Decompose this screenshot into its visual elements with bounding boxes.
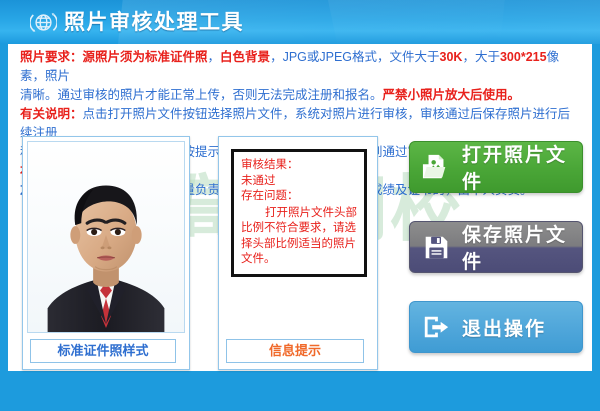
open-folder-photo-icon	[410, 153, 462, 181]
audit-result-value: 未通过	[241, 174, 358, 190]
sample-photo-card: 标准证件照样式	[22, 136, 190, 370]
open-photo-file-label: 打开照片文件	[462, 140, 582, 194]
notice-min-size: 30K	[440, 50, 463, 64]
notice-white-bg: 白色背景	[220, 50, 270, 64]
save-photo-file-button[interactable]: 保存照片文件	[409, 221, 583, 273]
audit-problem-label: 存在问题：	[241, 189, 358, 205]
right-blue-edge	[592, 44, 600, 371]
notice-instruction-label: 有关说明：	[20, 107, 83, 121]
sample-photo-caption: 标准证件照样式	[30, 339, 176, 363]
message-panel: 审核结果： 未通过 存在问题： 打开照片文件头部比例不符合要求，请选择头部比例适…	[218, 136, 378, 370]
notice-sep-3: ，大于	[462, 50, 500, 64]
notice-requirement-label: 照片要求：	[20, 50, 83, 64]
audit-result-box: 审核结果： 未通过 存在问题： 打开照片文件头部比例不符合要求，请选择头部比例适…	[231, 149, 367, 277]
notice-format-text: ，JPG或JPEG格式，文件大于	[270, 50, 439, 64]
notice-line-1: 照片要求：源照片须为标准证件照，白色背景，JPG或JPEG格式，文件大于30K，…	[20, 48, 580, 86]
bottom-blue-band	[0, 371, 600, 411]
notice-line-2: 清晰。通过审核的照片才能正常上传，否则无法完成注册和报名。严禁小照片放大后使用。	[20, 86, 580, 105]
notice-source-photo: 源照片须为标准证件照	[83, 50, 208, 64]
audit-problem-text: 打开照片文件头部比例不符合要求，请选择头部比例适当的照片文件。	[241, 206, 358, 268]
exit-button[interactable]: 退出操作	[409, 301, 583, 353]
save-photo-file-label: 保存照片文件	[462, 220, 582, 274]
globe-icon	[30, 9, 57, 36]
sample-id-photo	[28, 142, 184, 332]
left-blue-edge	[0, 44, 8, 371]
notice-upload-text: 清晰。通过审核的照片才能正常上传，否则无法完成注册和报名。	[20, 88, 383, 102]
app-header: 照片审核处理工具	[0, 0, 600, 44]
notice-sep-1: ，	[208, 50, 221, 64]
exit-label: 退出操作	[462, 314, 546, 341]
app-window: 照片审核处理工具 // 高顿网校 edu 照片要求：源照片须为标准证件照，白色背…	[0, 0, 600, 411]
audit-result-label: 审核结果：	[241, 158, 358, 174]
exit-arrow-icon	[410, 313, 462, 341]
open-photo-file-button[interactable]: 打开照片文件	[409, 141, 583, 193]
sample-photo-frame	[27, 141, 185, 333]
save-disk-icon	[410, 234, 462, 261]
page-title: 照片审核处理工具	[64, 9, 244, 36]
notice-min-pixels: 300*215	[500, 50, 547, 64]
message-panel-caption: 信息提示	[226, 339, 364, 363]
notice-warning-enlarge: 严禁小照片放大后使用。	[383, 88, 521, 102]
